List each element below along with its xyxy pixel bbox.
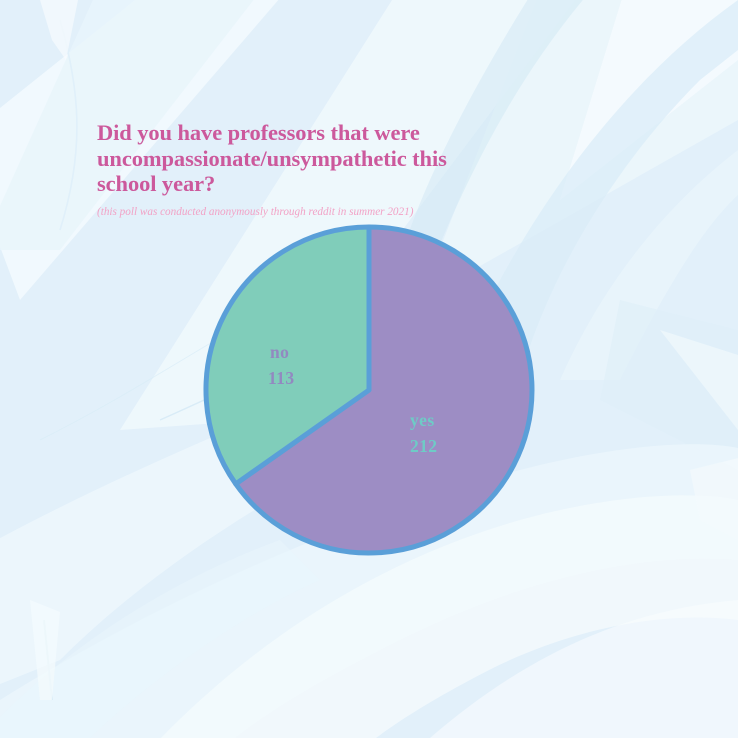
page-title: Did you have professors that were uncomp… [97, 120, 497, 197]
pie-chart: no 113 yes 212 [201, 222, 537, 558]
pie-label-no-value: 113 [268, 368, 295, 388]
pie-chart-svg: no 113 yes 212 [201, 222, 537, 558]
chart-canvas: Did you have professors that were uncomp… [0, 0, 738, 738]
pie-label-yes-value: 212 [410, 436, 437, 456]
heading-block: Did you have professors that were uncomp… [97, 120, 497, 219]
pie-label-yes-text: yes [410, 410, 435, 430]
pie-label-no-text: no [270, 342, 289, 362]
chart-subtitle: (this poll was conducted anonymously thr… [97, 206, 497, 219]
